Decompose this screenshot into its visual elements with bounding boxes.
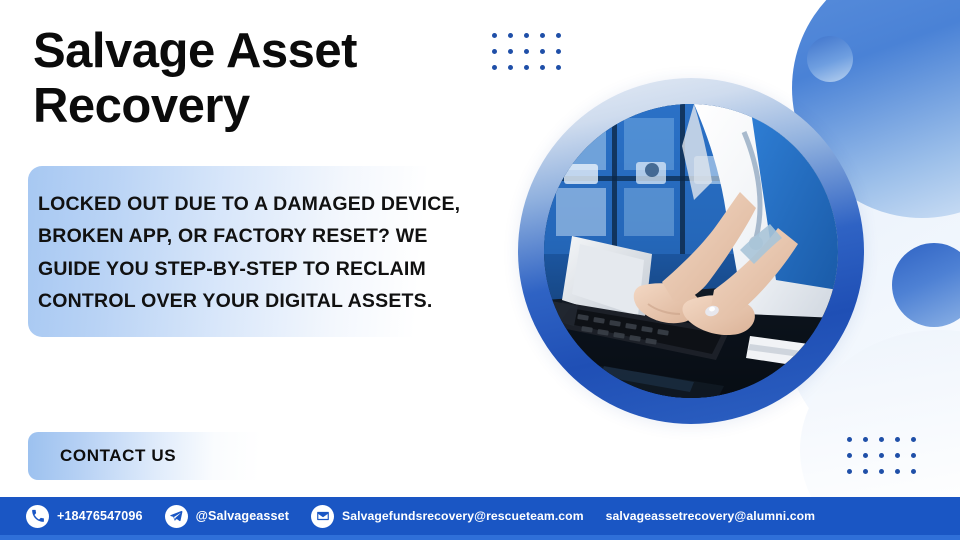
contact-email-secondary[interactable]: salvageassetrecovery@alumni.com [606, 509, 815, 523]
dot [540, 49, 545, 54]
contact-phone[interactable]: +18476547096 [26, 505, 143, 528]
dot [895, 469, 900, 474]
dot [911, 453, 916, 458]
description-panel: Locked out due to a damaged device, brok… [28, 166, 480, 337]
contact-bar: +18476547096 @Salvageasset Salvagefundsr… [0, 497, 960, 540]
hero-photo [544, 104, 838, 398]
dot [863, 469, 868, 474]
description-text: Locked out due to a damaged device, brok… [38, 188, 466, 317]
contact-email-secondary-label: salvageassetrecovery@alumni.com [606, 509, 815, 523]
dot [879, 437, 884, 442]
dot [508, 49, 513, 54]
contact-telegram-label: @Salvageasset [196, 509, 289, 523]
dot [540, 33, 545, 38]
dot [847, 469, 852, 474]
decorative-circle-small [807, 36, 853, 82]
dot [895, 453, 900, 458]
dot [508, 33, 513, 38]
dot [879, 469, 884, 474]
dot [556, 65, 561, 70]
page-title: Salvage Asset Recovery [33, 24, 503, 134]
phone-icon [26, 505, 49, 528]
dot [863, 453, 868, 458]
dot [524, 65, 529, 70]
dot-grid-bottom [847, 437, 916, 474]
contact-phone-label: +18476547096 [57, 509, 143, 523]
dot [879, 453, 884, 458]
dot [847, 437, 852, 442]
contact-us-label: CONTACT US [60, 446, 176, 466]
contact-email-primary[interactable]: Salvagefundsrecovery@rescueteam.com [311, 505, 584, 528]
dot [508, 65, 513, 70]
decorative-circle-medium [892, 243, 960, 327]
contact-telegram[interactable]: @Salvageasset [165, 505, 289, 528]
dot [556, 49, 561, 54]
dot [556, 33, 561, 38]
dot [863, 437, 868, 442]
dot [524, 33, 529, 38]
dot [524, 49, 529, 54]
dot [847, 453, 852, 458]
email-icon [311, 505, 334, 528]
promotional-banner: Salvage Asset Recovery Locked out due to… [0, 0, 960, 540]
contact-email-primary-label: Salvagefundsrecovery@rescueteam.com [342, 509, 584, 523]
dot [895, 437, 900, 442]
photo-ring [518, 78, 864, 424]
dot [911, 469, 916, 474]
telegram-icon [165, 505, 188, 528]
dot [911, 437, 916, 442]
contact-us-button[interactable]: CONTACT US [28, 432, 260, 480]
dot [540, 65, 545, 70]
